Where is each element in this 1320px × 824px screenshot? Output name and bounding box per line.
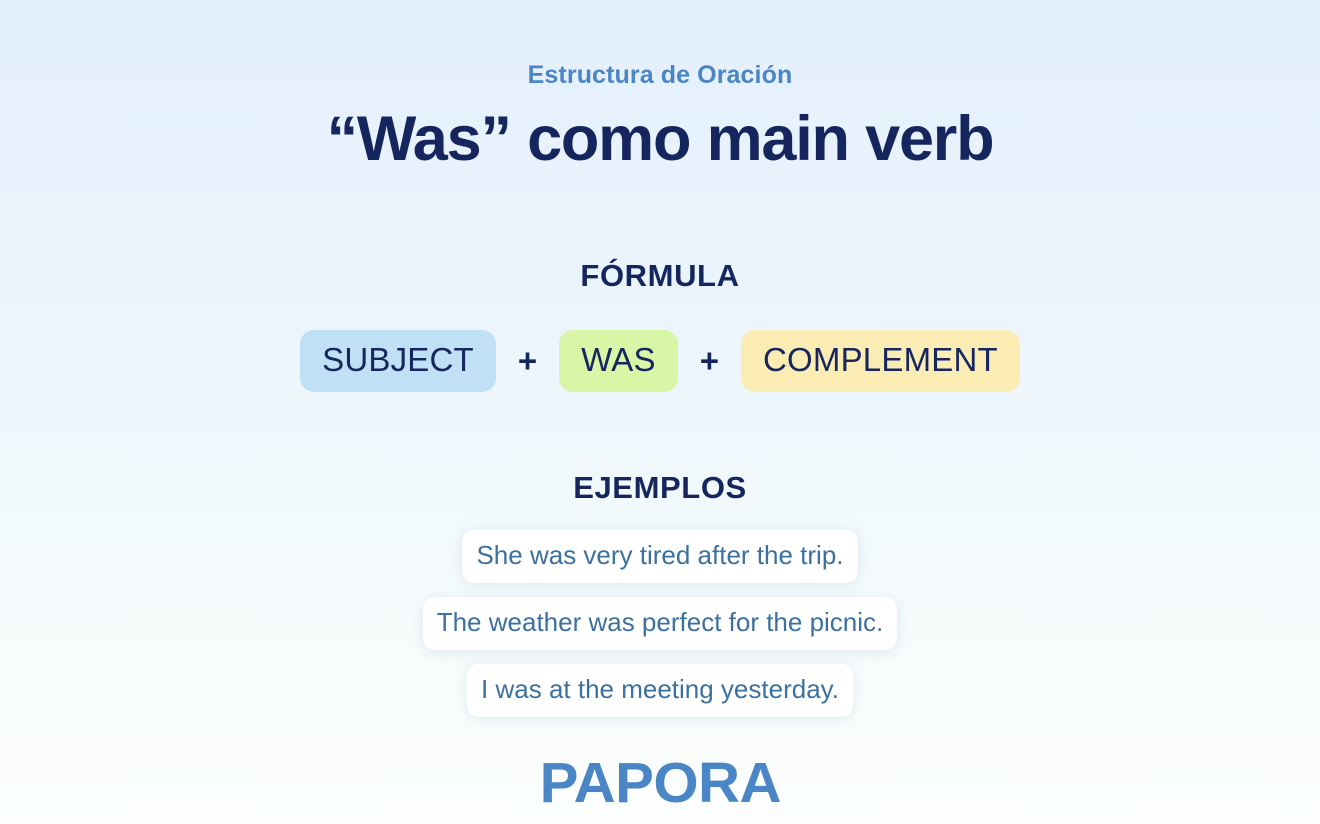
poster-canvas: Estructura de Oración “Was” como main ve… <box>0 0 1320 824</box>
examples-heading: EJEMPLOS <box>573 470 747 506</box>
formula-chip-was: WAS <box>559 330 678 392</box>
header: Estructura de Oración “Was” como main ve… <box>0 0 1320 174</box>
formula-heading: FÓRMULA <box>580 258 739 294</box>
formula-section: FÓRMULA SUBJECT + WAS + COMPLEMENT <box>0 258 1320 392</box>
page-title: “Was” como main verb <box>0 104 1320 175</box>
formula-plus-separator-2: + <box>678 344 741 377</box>
example-item: She was very tired after the trip. <box>462 530 857 583</box>
example-item: I was at the meeting yesterday. <box>467 664 853 717</box>
formula-chip-subject: SUBJECT <box>300 330 496 392</box>
example-item: The weather was perfect for the picnic. <box>423 597 898 650</box>
footer: PAPORA <box>0 755 1320 812</box>
examples-list: She was very tired after the trip. The w… <box>423 530 898 718</box>
formula-plus-separator-1: + <box>496 344 559 377</box>
eyebrow-label: Estructura de Oración <box>0 62 1320 90</box>
formula-row: SUBJECT + WAS + COMPLEMENT <box>300 330 1020 392</box>
formula-chip-complement: COMPLEMENT <box>741 330 1020 392</box>
papora-logo: PAPORA <box>539 755 780 812</box>
examples-section: EJEMPLOS She was very tired after the tr… <box>0 470 1320 718</box>
